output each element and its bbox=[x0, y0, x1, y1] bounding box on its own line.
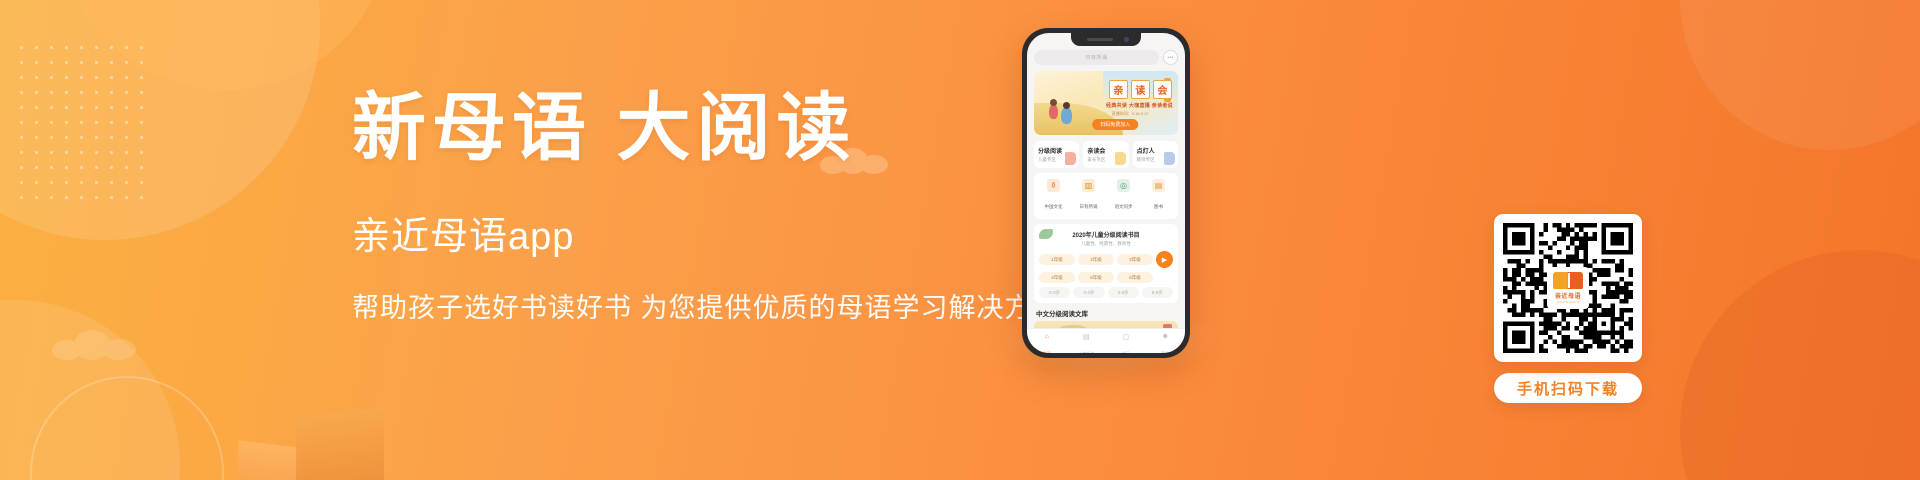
decor-arc-bottom-left bbox=[30, 376, 224, 480]
category-cards: 分级阅读 儿童专区 亲读会 家长专区 点灯人 教师专区 bbox=[1034, 141, 1178, 168]
hero-char-2: 读 bbox=[1131, 80, 1150, 99]
tab-profile[interactable]: ☻ 我的 bbox=[1146, 329, 1186, 353]
tab-label: 学习 bbox=[1122, 351, 1130, 353]
tab-label: 首页 bbox=[1043, 351, 1051, 353]
quick-icon-curriculum-sync[interactable]: ◎ 语文同步 bbox=[1106, 179, 1141, 213]
qr-code-box: 亲近母语 QINJIN MUYU bbox=[1494, 214, 1642, 362]
books-icon: ▤ bbox=[1152, 179, 1165, 192]
app-search-row: 日有所诵 ••• bbox=[1034, 50, 1178, 65]
hero-join-button[interactable]: 扫码免费加入 bbox=[1092, 119, 1138, 130]
phone-mockup: 日有所诵 ••• 亲 读 会 经典共读 大咖直播 亲读者说 bbox=[1022, 28, 1190, 358]
booklist-section: 2020年儿童分级阅读书目 儿童性、经典性、教育性 1年级 2年级 3年级 ▶ … bbox=[1034, 224, 1178, 303]
more-dots-icon[interactable]: ••• bbox=[1163, 50, 1178, 65]
book-blue-icon bbox=[1164, 152, 1175, 165]
age-chip[interactable]: 4-5岁 bbox=[1108, 287, 1139, 298]
booklist-subtitle: 儿童性、经典性、教育性 bbox=[1039, 241, 1173, 247]
tab-home[interactable]: ⌂ 首页 bbox=[1027, 329, 1067, 353]
hero-char-1: 亲 bbox=[1109, 80, 1128, 99]
grade-chip[interactable]: 5年级 bbox=[1078, 272, 1114, 283]
clipboard-icon: ▢ bbox=[1121, 332, 1130, 341]
library-title: 中文分级阅读文库 bbox=[1034, 308, 1178, 318]
search-input[interactable]: 日有所诵 bbox=[1034, 50, 1159, 65]
video-play-icon[interactable]: ▶ bbox=[1156, 251, 1173, 268]
age-chip[interactable]: 5-6岁 bbox=[1142, 287, 1173, 298]
grade-chip[interactable]: 6年级 bbox=[1117, 272, 1153, 283]
book-yellow-icon bbox=[1115, 152, 1126, 165]
grade-chip[interactable]: 3年级 bbox=[1117, 254, 1153, 265]
promo-banner: 新母语 大阅读 亲近母语app 帮助孩子选好书读好书 为您提供优质的母语学习解决… bbox=[0, 0, 1920, 480]
hero-title: 亲 读 会 bbox=[1109, 80, 1172, 99]
decor-dot-grid bbox=[14, 40, 150, 200]
grade-row-1: 1年级 2年级 3年级 ▶ bbox=[1039, 251, 1173, 268]
search-placeholder: 日有所诵 bbox=[1085, 54, 1107, 61]
person-icon: ☻ bbox=[1161, 332, 1170, 341]
decor-blob-bottom-right bbox=[1680, 250, 1920, 480]
hero-date: 直播时间：9.16-9.27 bbox=[1112, 111, 1149, 117]
tab-label: 小步听书 bbox=[1078, 351, 1094, 353]
quick-icon-label: 日有所诵 bbox=[1080, 204, 1098, 209]
decor-cube bbox=[296, 407, 384, 480]
book-logo-icon bbox=[1553, 272, 1583, 289]
hero-char-3: 会 bbox=[1153, 80, 1172, 99]
grade-row-2: 4年级 5年级 6年级 bbox=[1039, 272, 1173, 283]
decor-cube-small bbox=[238, 440, 300, 480]
tab-label: 我的 bbox=[1161, 351, 1169, 353]
open-book-icon: ▥ bbox=[1082, 179, 1095, 192]
qr-center-logo: 亲近母语 QINJIN MUYU bbox=[1547, 267, 1589, 309]
qr-download-block: 亲近母语 QINJIN MUYU 手机扫码下载 bbox=[1494, 214, 1642, 403]
category-card-teacher[interactable]: 点灯人 教师专区 bbox=[1133, 141, 1178, 168]
phone-notch bbox=[1071, 33, 1141, 46]
age-row: 0-3岁 3-4岁 4-5岁 5-6岁 bbox=[1039, 287, 1173, 298]
quick-icon-label: 图书 bbox=[1154, 204, 1163, 209]
quick-icon-chinese-culture[interactable]: ⚱ 中国文化 bbox=[1036, 179, 1071, 213]
tab-study[interactable]: ▢ 学习 bbox=[1106, 329, 1146, 353]
category-card-graded-reading[interactable]: 分级阅读 儿童专区 bbox=[1034, 141, 1079, 168]
home-icon: ⌂ bbox=[1042, 332, 1051, 341]
booklist-title: 2020年儿童分级阅读书目 bbox=[1039, 230, 1173, 239]
qr-logo-name: 亲近母语 bbox=[1555, 291, 1581, 300]
age-chip[interactable]: 0-3岁 bbox=[1039, 287, 1070, 298]
kid-illustration-1 bbox=[1049, 104, 1058, 119]
quick-icon-books[interactable]: ▤ 图书 bbox=[1141, 179, 1176, 213]
quick-icon-daily-recitation[interactable]: ▥ 日有所诵 bbox=[1071, 179, 1106, 213]
tab-listen[interactable]: ▤ 小步听书 bbox=[1067, 329, 1107, 353]
list-icon: ▤ bbox=[1082, 332, 1091, 341]
qr-code: 亲近母语 QINJIN MUYU bbox=[1503, 223, 1633, 353]
page-title: 新母语 大阅读 bbox=[352, 88, 1012, 171]
quick-icon-label: 语文同步 bbox=[1115, 204, 1133, 209]
book-red-icon bbox=[1065, 152, 1076, 165]
quick-icon-row: ⚱ 中国文化 ▥ 日有所诵 ◎ 语文同步 ▤ 图书 bbox=[1034, 173, 1178, 219]
decor-cloud-left bbox=[52, 330, 138, 360]
tagline: 帮助孩子选好书读好书 为您提供优质的母语学习解决方案 bbox=[352, 286, 1012, 325]
grade-chip[interactable]: 1年级 bbox=[1039, 254, 1075, 265]
decor-blob-top-right bbox=[1680, 0, 1920, 150]
grade-chip[interactable]: 4年级 bbox=[1039, 272, 1075, 283]
hero-banner-card[interactable]: 亲 读 会 经典共读 大咖直播 亲读者说 直播时间：9.16-9.27 扫码免费… bbox=[1034, 71, 1178, 135]
category-card-parent-club[interactable]: 亲读会 家长专区 bbox=[1083, 141, 1128, 168]
bottom-tab-bar: ⌂ 首页 ▤ 小步听书 ▢ 学习 ☻ 我的 bbox=[1027, 328, 1185, 353]
age-chip[interactable]: 3-4岁 bbox=[1073, 287, 1104, 298]
sync-icon: ◎ bbox=[1117, 179, 1130, 192]
app-name: 亲近母语app bbox=[352, 205, 1012, 260]
lantern-icon: ⚱ bbox=[1047, 179, 1060, 192]
grade-chip[interactable]: 2年级 bbox=[1078, 254, 1114, 265]
hero-subtitle: 经典共读 大咖直播 亲读者说 bbox=[1106, 102, 1173, 109]
download-button[interactable]: 手机扫码下载 bbox=[1494, 373, 1642, 403]
kid-illustration-2 bbox=[1061, 107, 1072, 124]
phone-screen: 日有所诵 ••• 亲 读 会 经典共读 大咖直播 亲读者说 bbox=[1027, 33, 1185, 353]
qr-logo-sub: QINJIN MUYU bbox=[1557, 300, 1580, 304]
quick-icon-label: 中国文化 bbox=[1045, 204, 1063, 209]
headline-block: 新母语 大阅读 亲近母语app 帮助孩子选好书读好书 为您提供优质的母语学习解决… bbox=[352, 88, 1012, 325]
